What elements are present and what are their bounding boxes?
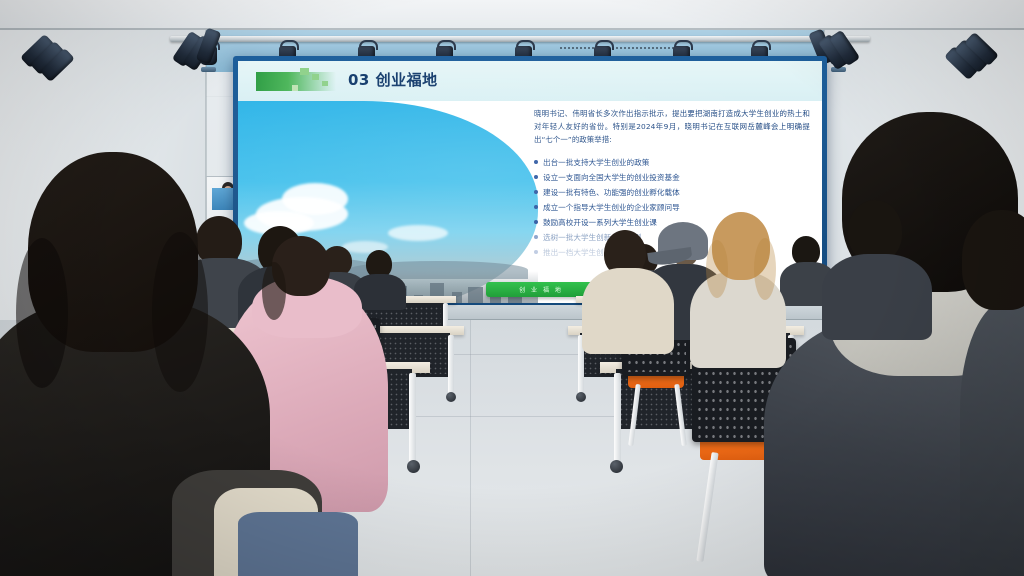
slide-title: 03 创业福地 [348, 69, 438, 90]
lecture-hall-scene: 03 创业福地 [0, 0, 1024, 576]
truss-cable [560, 38, 690, 49]
ceiling [0, 0, 1024, 30]
slide-bullet-label: 成立一个指导大学生创业的企业家顾问导 [543, 200, 680, 215]
slide-paragraph: 晓明书记、伟明省长多次作出指示批示，提出要把湖南打造成大学生创业的热土和对年轻人… [534, 107, 816, 146]
slide-bullet-item: 建设一批有特色、功能强的创业孵化载体 [534, 185, 816, 200]
slide-header-decoration [256, 72, 336, 91]
stage-light-cluster-far-right [952, 30, 992, 88]
slide-footer-badge: 创 业 福 地 [486, 282, 596, 297]
bullet-dot-icon [534, 160, 538, 164]
stage-light-cluster-left [178, 26, 218, 84]
bullet-dot-icon [534, 250, 538, 254]
bullet-dot-icon [534, 205, 538, 209]
ceiling-edge-line [0, 28, 1024, 30]
bullet-dot-icon [534, 190, 538, 194]
stage-light-cluster-far-left [30, 30, 70, 88]
bullet-dot-icon [534, 175, 538, 179]
bullet-dot-icon [534, 235, 538, 239]
slide-bullet-label: 出台一批支持大学生创业的政策 [543, 155, 649, 170]
slide-bullet-item: 成立一个指导大学生创业的企业家顾问导 [534, 200, 816, 215]
slide-footer-badge-label: 创 业 福 地 [519, 285, 563, 294]
slide-bullet-item: 设立一支面向全国大学生的创业投资基金 [534, 170, 816, 185]
slide-bullet-label: 建设一批有特色、功能强的创业孵化载体 [543, 185, 680, 200]
slide-bullet-label: 鼓励高校开设一系列大学生创业课 [543, 215, 657, 230]
bullet-dot-icon [534, 220, 538, 224]
slide-bullet-item: 出台一批支持大学生创业的政策 [534, 155, 816, 170]
slide-bullet-label: 设立一支面向全国大学生的创业投资基金 [543, 170, 680, 185]
